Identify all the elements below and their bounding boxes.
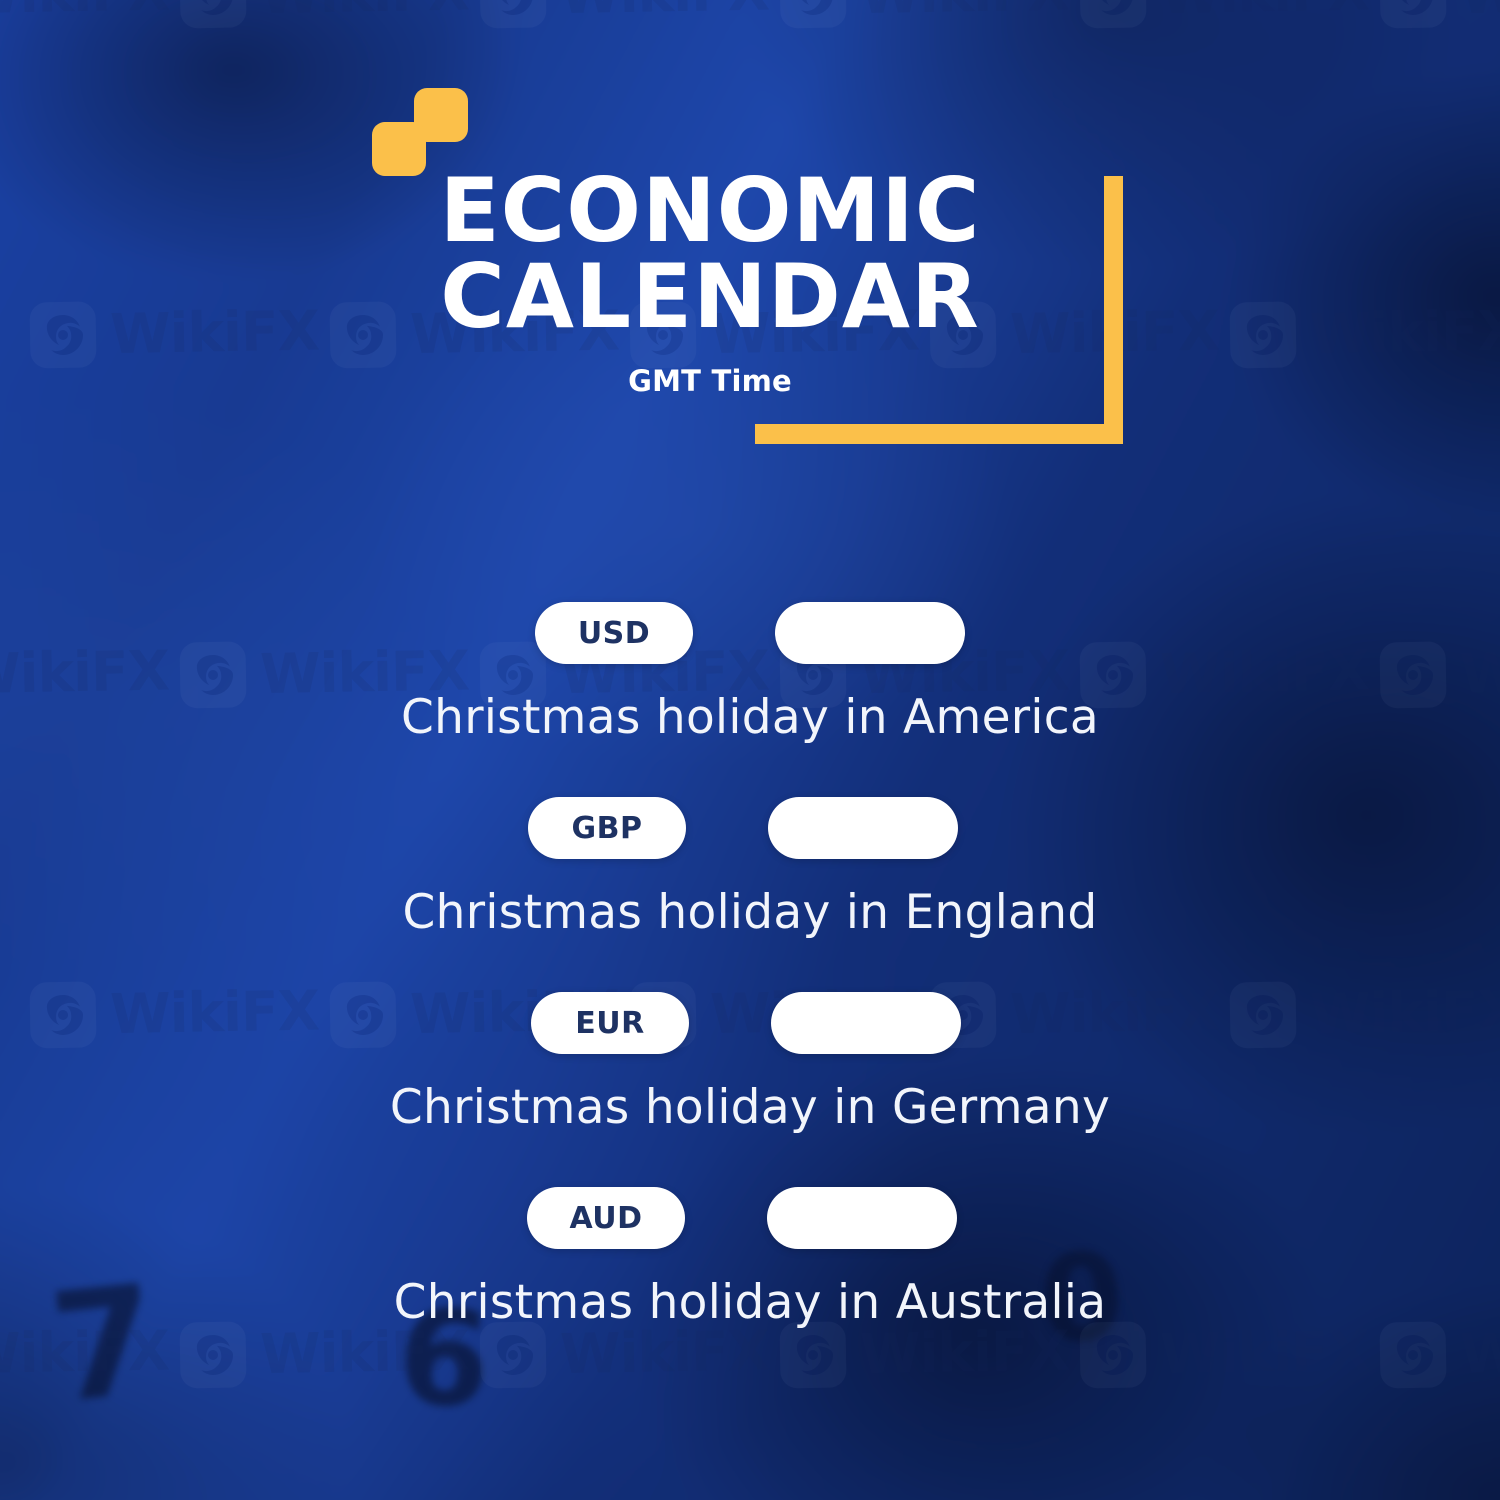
economic-calendar-poster: 7 6 0 WikiFX WikiFX WikiFX (0, 0, 1500, 1500)
currency-code-label: EUR (575, 1006, 644, 1041)
accent-bracket-horizontal (755, 424, 1123, 444)
event-row: EURChristmas holiday in Germany (0, 992, 1500, 1135)
title-line-1: ECONOMIC (330, 168, 1090, 254)
event-row: USDChristmas holiday in America (0, 602, 1500, 745)
currency-code-label: USD (578, 616, 650, 651)
event-time-pill[interactable] (771, 992, 961, 1054)
event-pill-group: AUD (0, 1187, 1492, 1249)
event-time-pill[interactable] (775, 602, 965, 664)
currency-pill[interactable]: AUD (527, 1187, 685, 1249)
currency-code-label: GBP (572, 811, 643, 846)
event-row: AUDChristmas holiday in Australia (0, 1187, 1500, 1330)
currency-pill[interactable]: USD (535, 602, 693, 664)
event-description: Christmas holiday in Germany (0, 1080, 1500, 1135)
currency-pill[interactable]: GBP (528, 797, 686, 859)
currency-code-label: AUD (569, 1201, 642, 1236)
event-time-pill[interactable] (767, 1187, 957, 1249)
accent-bracket-vertical (1104, 176, 1123, 444)
event-row: GBPChristmas holiday in England (0, 797, 1500, 940)
event-time-pill[interactable] (768, 797, 958, 859)
event-pill-group: GBP (0, 797, 1493, 859)
event-pill-group: USD (0, 602, 1500, 664)
page-title: ECONOMIC CALENDAR GMT Time (330, 168, 1090, 398)
event-list: USDChristmas holiday in AmericaGBPChrist… (0, 580, 1500, 1330)
event-description: Christmas holiday in Australia (0, 1275, 1500, 1330)
currency-pill[interactable]: EUR (531, 992, 689, 1054)
title-line-2: CALENDAR (330, 254, 1090, 340)
subtitle-gmt-time: GMT Time (330, 364, 1090, 398)
event-description: Christmas holiday in America (0, 690, 1500, 745)
event-pill-group: EUR (0, 992, 1496, 1054)
event-description: Christmas holiday in England (0, 885, 1500, 940)
